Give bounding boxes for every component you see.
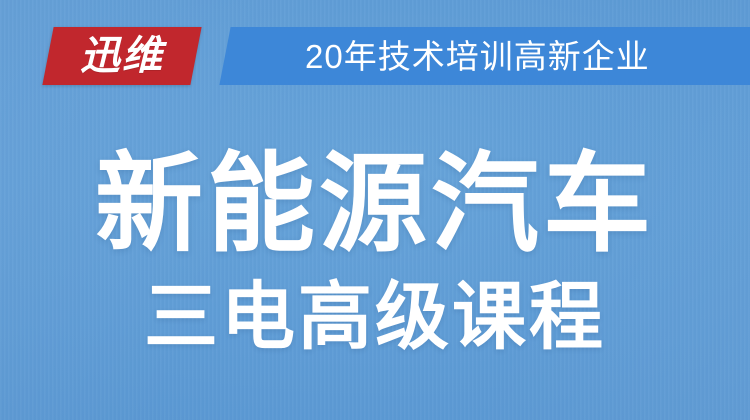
brand-logo-badge-inner: 迅维 bbox=[48, 27, 196, 85]
poster-title-block: 新能源汽车 三电高级课程 bbox=[0, 150, 750, 354]
brand-logo-text: 迅维 bbox=[80, 36, 164, 76]
course-poster: 迅维 20年技术培训高新企业 新能源汽车 三电高级课程 bbox=[0, 0, 750, 420]
poster-subtitle: 三电高级课程 bbox=[0, 280, 750, 354]
poster-main-title: 新能源汽车 bbox=[0, 150, 750, 258]
tagline-banner: 20年技术培训高新企业 bbox=[219, 27, 750, 85]
brand-logo-badge: 迅维 bbox=[42, 27, 201, 85]
tagline-banner-inner: 20年技术培训高新企业 bbox=[225, 27, 750, 85]
tagline-text: 20年技术培训高新企业 bbox=[305, 40, 650, 73]
poster-header: 迅维 20年技术培训高新企业 bbox=[0, 0, 750, 110]
